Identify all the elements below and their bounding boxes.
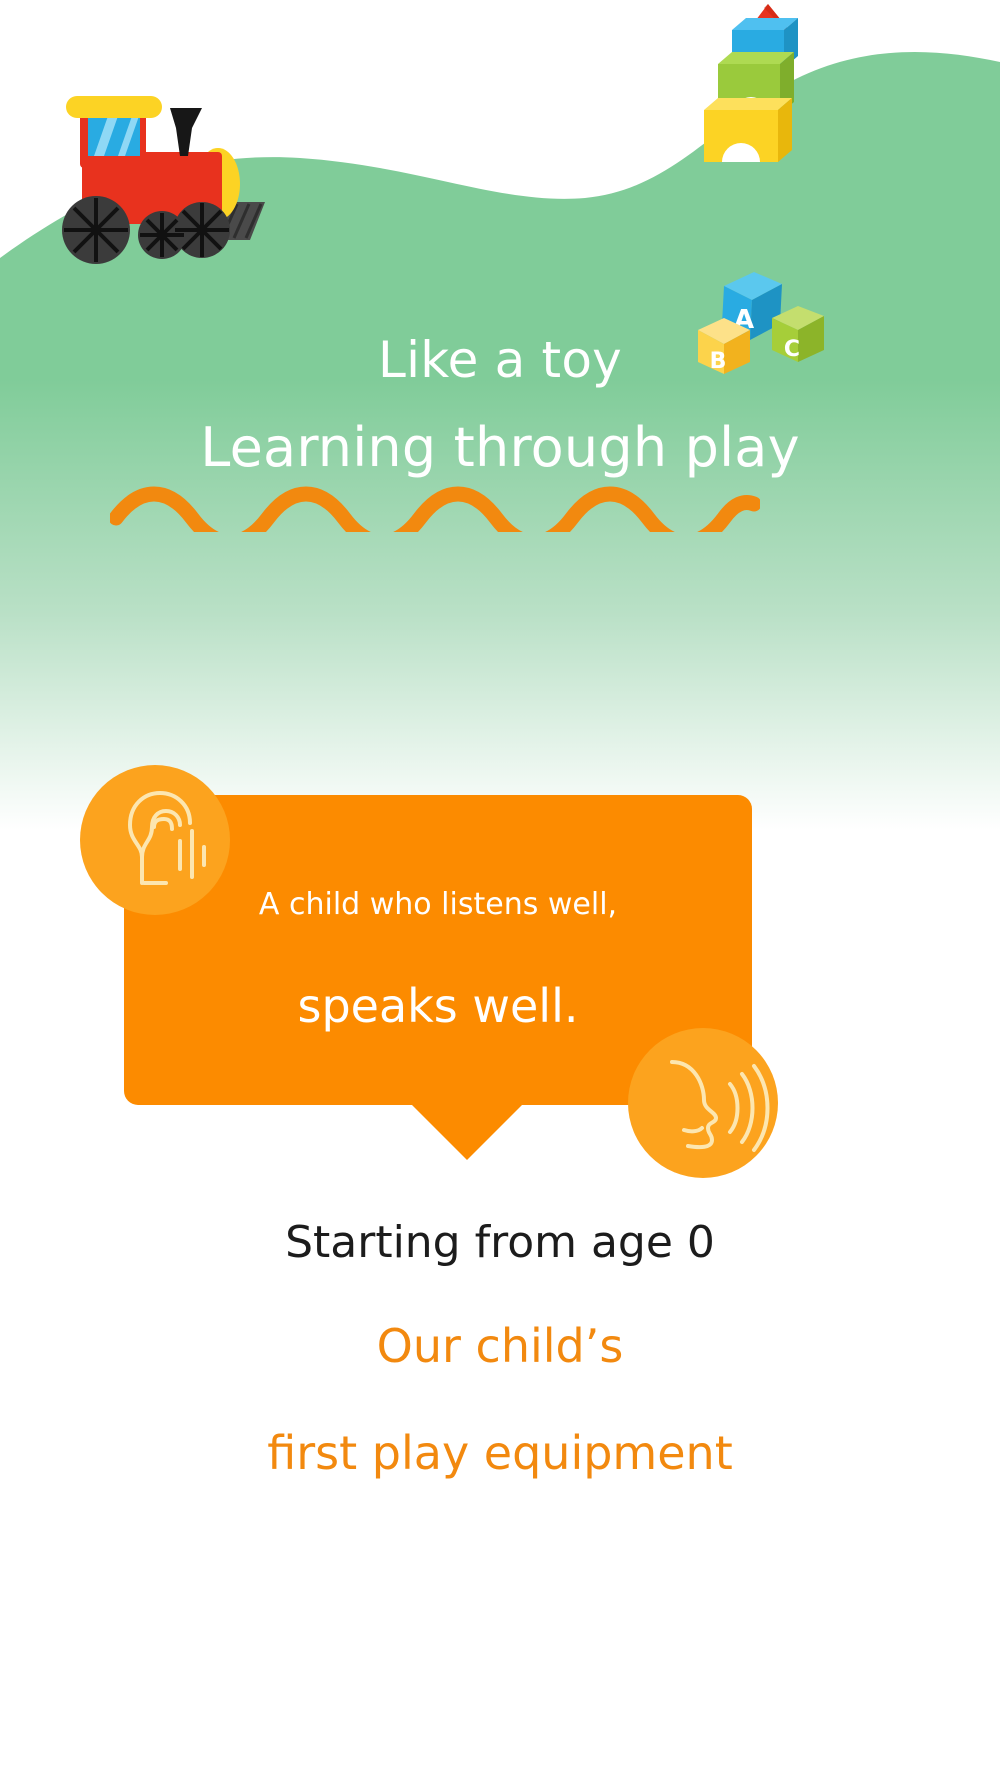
promo-line-1: Our child’s — [0, 1315, 1000, 1377]
speaking-face-badge — [628, 1028, 778, 1178]
wavy-underline — [110, 482, 760, 536]
stacked-toy-blocks — [690, 0, 830, 174]
promo-line-2: first play equipment — [0, 1422, 1000, 1484]
stacked-blocks-icon — [690, 0, 830, 170]
wavy-underline-icon — [110, 482, 760, 532]
headline-line-2: Learning through play — [0, 415, 1000, 481]
ear-listening-icon — [80, 765, 230, 915]
age-line: Starting from age 0 — [0, 1213, 1000, 1273]
speaking-face-icon — [628, 1028, 778, 1178]
headline-line-1: Like a toy — [0, 330, 1000, 390]
toy-train-icon — [50, 90, 300, 270]
promo-poster: A B C Like a toy Learning through play — [0, 0, 1000, 1772]
ear-listening-badge — [80, 765, 230, 915]
speech-bubble-tail — [411, 1104, 523, 1160]
toy-train — [50, 90, 300, 274]
